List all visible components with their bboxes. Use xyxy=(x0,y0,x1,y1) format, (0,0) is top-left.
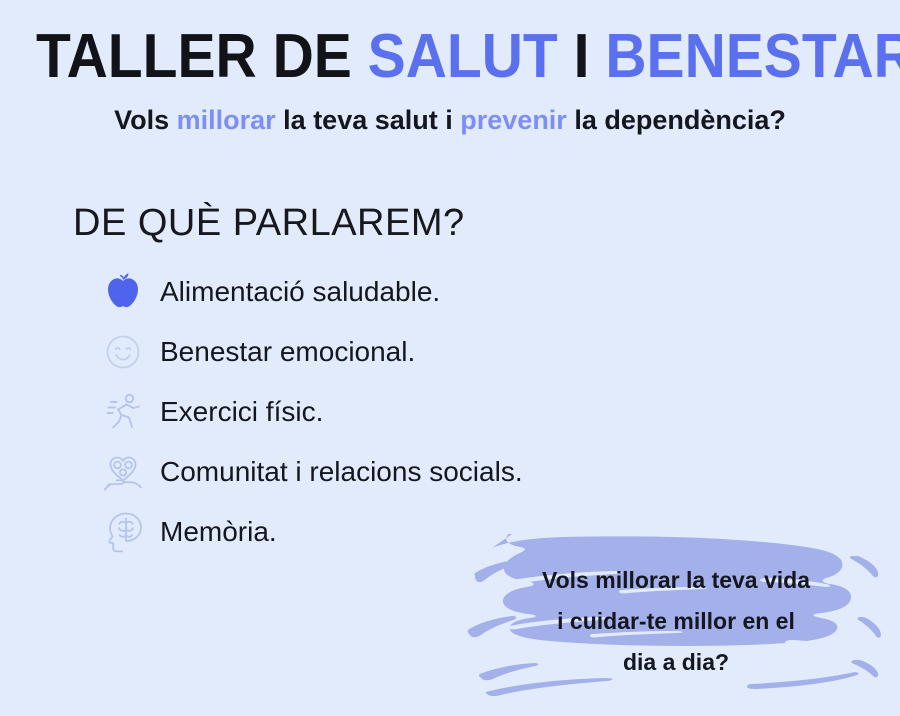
list-item: Benestar emocional. xyxy=(96,322,796,382)
page-subtitle: Vols millorar la teva salut i prevenir l… xyxy=(0,103,900,137)
subtitle-highlight-millorar: millorar xyxy=(177,105,276,135)
subtitle-part-la-dependencia: la dependència? xyxy=(567,105,786,135)
topics-list: Alimentació saludable. Benestar emociona… xyxy=(96,262,796,562)
brush-callout: Vols millorar la teva vida i cuidar-te m… xyxy=(462,534,890,710)
list-item-label: Alimentació saludable. xyxy=(160,275,440,309)
title-separator-i: I xyxy=(558,22,606,91)
smiley-face-icon xyxy=(96,326,150,378)
subtitle-highlight-prevenir: prevenir xyxy=(460,105,567,135)
callout-line-1: Vols millorar la teva vida xyxy=(462,560,890,601)
callout-line-2: i cuidar-te millor en el xyxy=(462,601,890,642)
section-heading: DE QUÈ PARLAREM? xyxy=(73,200,465,246)
list-item: Comunitat i relacions socials. xyxy=(96,442,796,502)
list-item: Alimentació saludable. xyxy=(96,262,796,322)
list-item-label: Comunitat i relacions socials. xyxy=(160,455,523,489)
list-item-label: Memòria. xyxy=(160,515,277,549)
page-title: TALLER DE SALUT I BENESTAR xyxy=(36,22,864,92)
callout-text: Vols millorar la teva vida i cuidar-te m… xyxy=(462,560,890,683)
poster-canvas: TALLER DE SALUT I BENESTAR Vols millorar… xyxy=(0,0,900,716)
list-item: Exercici físic. xyxy=(96,382,796,442)
list-item-label: Exercici físic. xyxy=(160,395,323,429)
title-part-salut: SALUT xyxy=(368,22,558,91)
subtitle-part-vols: Vols xyxy=(114,105,177,135)
callout-line-3: dia a dia? xyxy=(462,642,890,683)
apple-icon xyxy=(96,266,150,318)
running-person-icon xyxy=(96,386,150,438)
list-item-label: Benestar emocional. xyxy=(160,335,415,369)
heart-in-hand-icon xyxy=(96,446,150,498)
title-part-benestar: BENESTAR xyxy=(605,22,900,91)
title-part-taller-de: TALLER DE xyxy=(36,22,368,91)
subtitle-part-la-teva-salut: la teva salut i xyxy=(276,105,461,135)
brain-head-icon xyxy=(96,506,150,558)
